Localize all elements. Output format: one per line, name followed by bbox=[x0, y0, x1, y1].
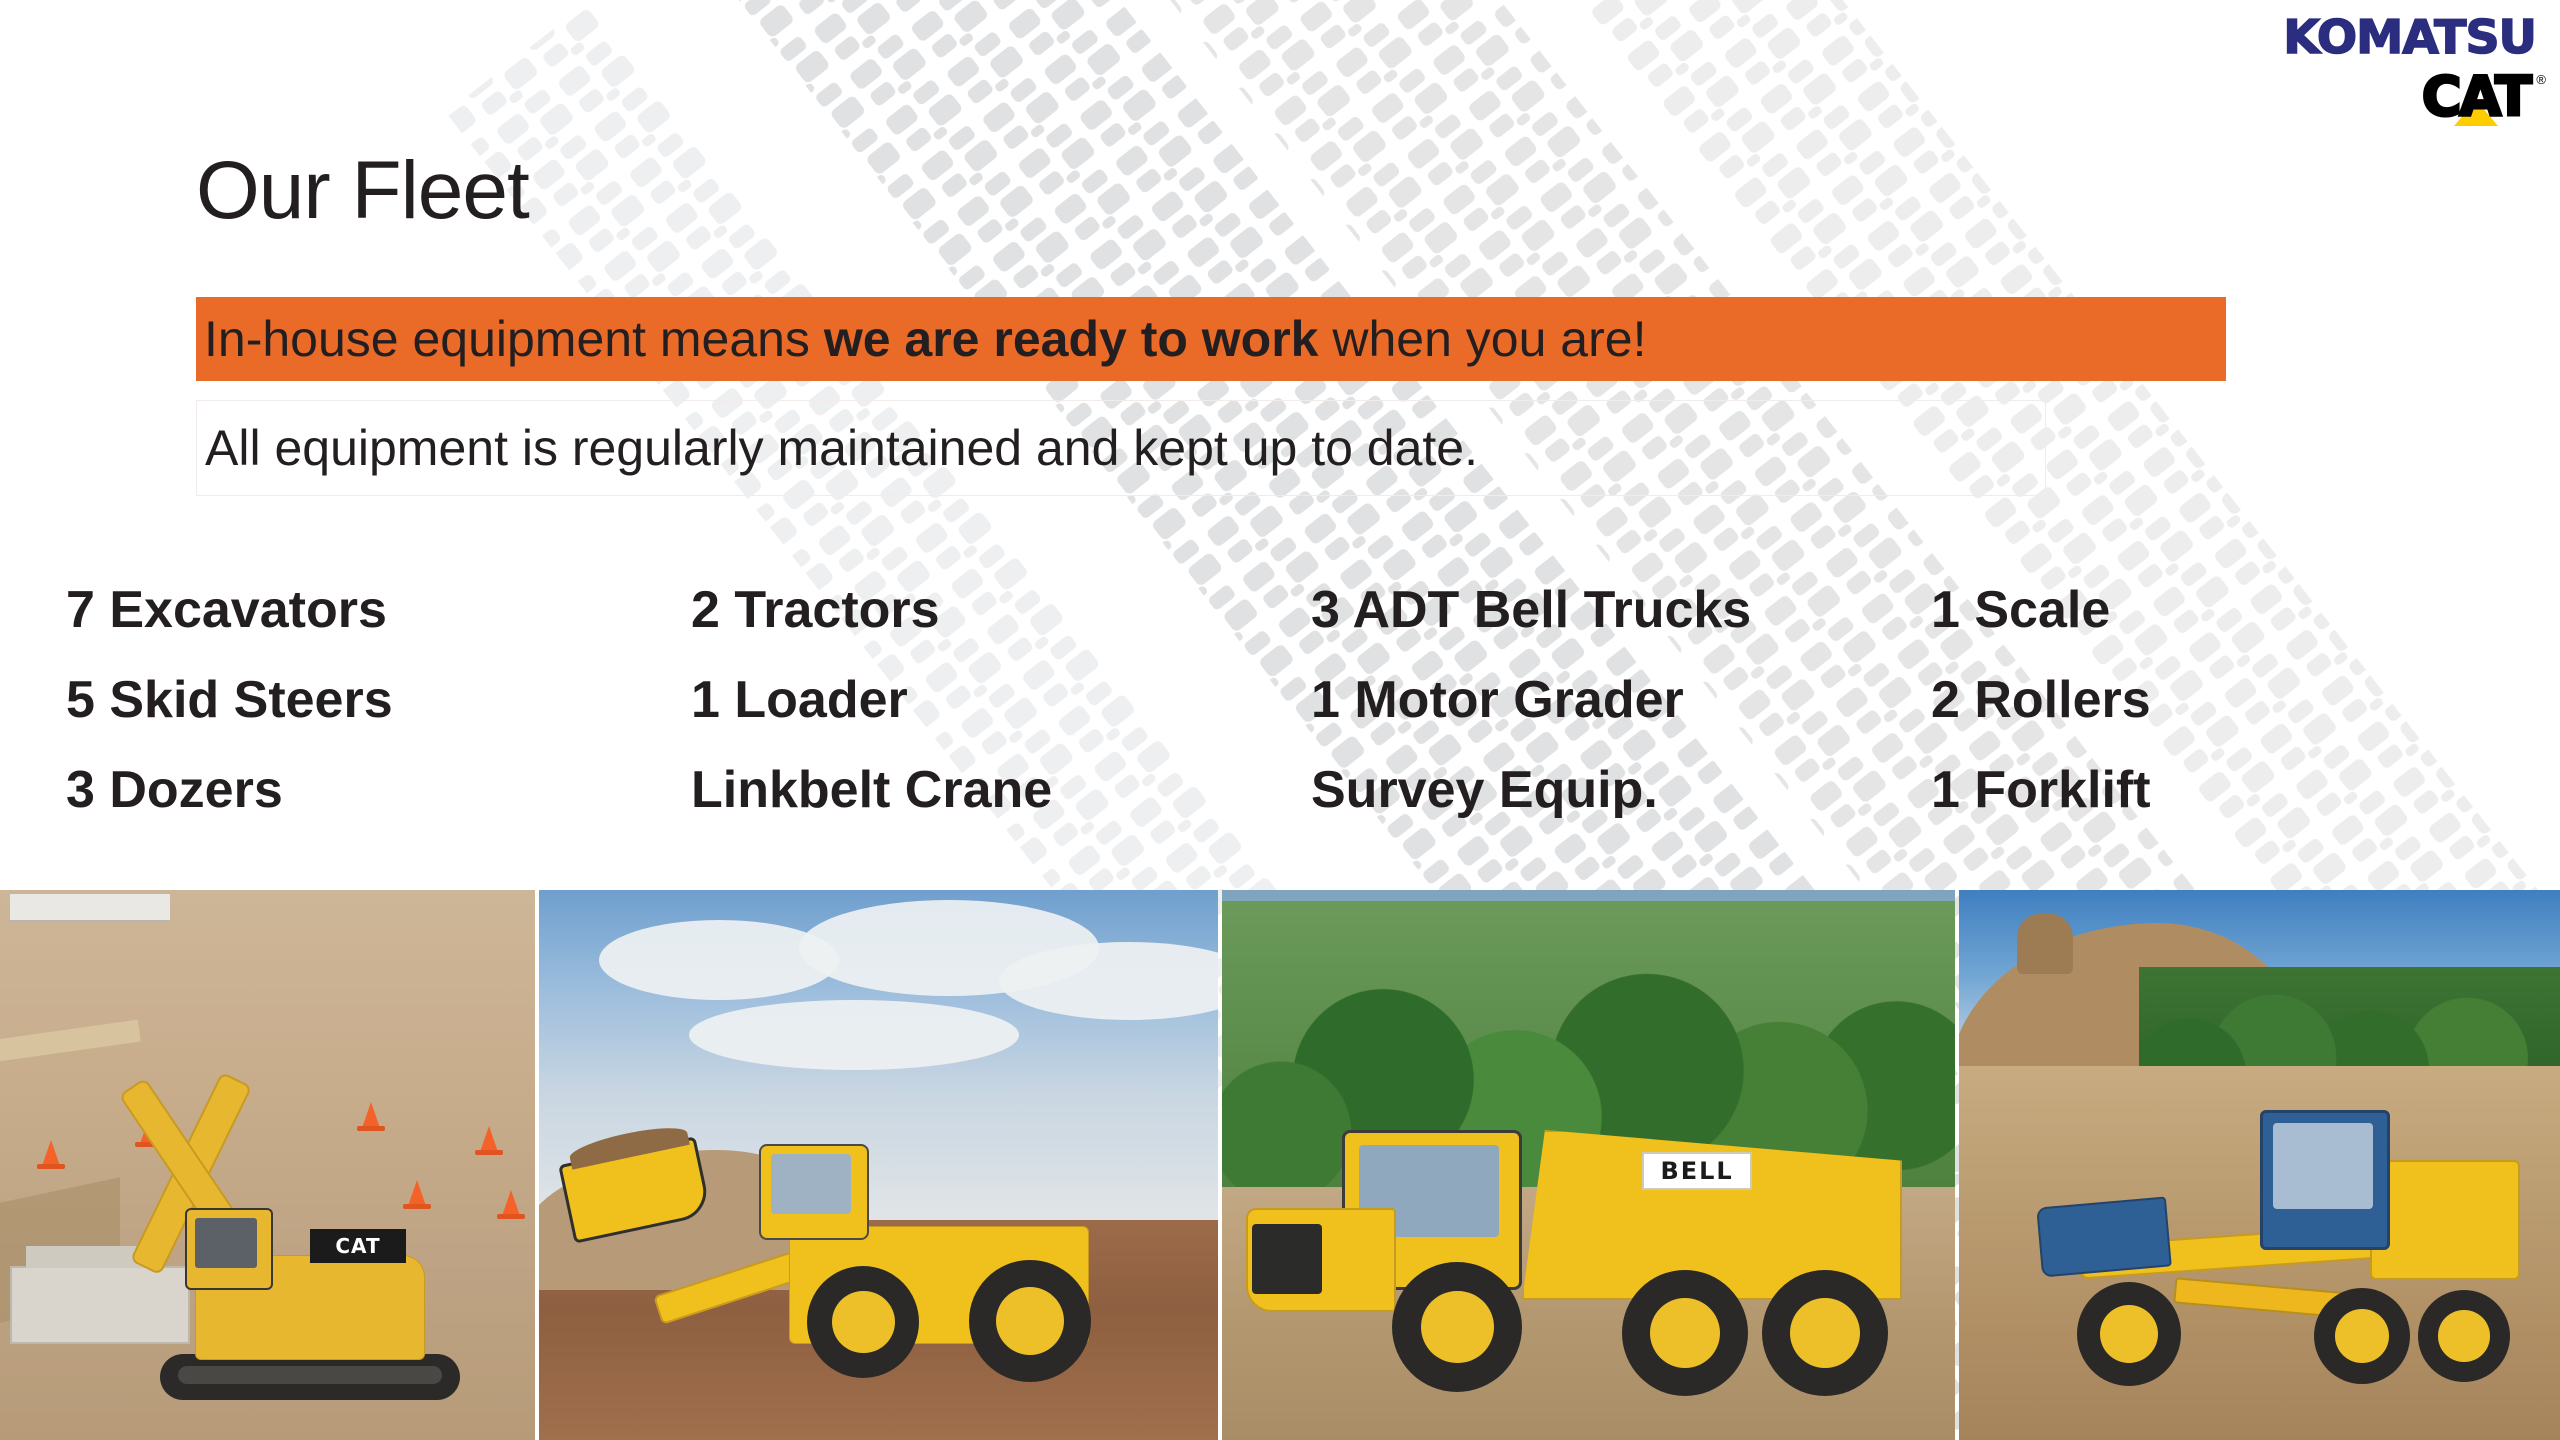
traffic-cone-icon bbox=[408, 1180, 426, 1206]
adt-front-wheel bbox=[1392, 1262, 1522, 1392]
grader-nose bbox=[2036, 1196, 2172, 1277]
fleet-item: 1 Forklift bbox=[1931, 745, 2391, 835]
banner-text: In-house equipment means we are ready to… bbox=[204, 314, 1646, 364]
komatsu-motor-grader-photo bbox=[1959, 890, 2560, 1440]
fleet-list: 7 Excavators 5 Skid Steers 3 Dozers 2 Tr… bbox=[66, 565, 2466, 835]
banner-tail-text: when you are! bbox=[1318, 311, 1646, 367]
grader-cab bbox=[2260, 1110, 2390, 1250]
excavator-cab bbox=[185, 1208, 273, 1290]
subtitle-box: All equipment is regularly maintained an… bbox=[196, 400, 2046, 496]
cat-excavator-photo: CAT bbox=[0, 890, 535, 1440]
highlight-banner: In-house equipment means we are ready to… bbox=[196, 297, 2226, 381]
concrete-block bbox=[10, 1266, 190, 1344]
traffic-cone-icon bbox=[362, 1102, 380, 1128]
fleet-item: 5 Skid Steers bbox=[66, 655, 691, 745]
subtitle-text: All equipment is regularly maintained an… bbox=[205, 423, 1478, 473]
banner-emphasis-text: we are ready to work bbox=[824, 311, 1319, 367]
komatsu-wheel-loader-photo bbox=[539, 890, 1218, 1440]
adt-rear-wheel bbox=[1762, 1270, 1888, 1396]
fleet-item: 7 Excavators bbox=[66, 565, 691, 655]
loader-cab bbox=[759, 1144, 869, 1240]
fleet-item: 2 Tractors bbox=[691, 565, 1311, 655]
registered-mark-icon: ® bbox=[2536, 72, 2546, 87]
page-title: Our Fleet bbox=[196, 150, 529, 232]
bell-adt-truck-photo: BELL bbox=[1222, 890, 1955, 1440]
fleet-item: 1 Scale bbox=[1931, 565, 2391, 655]
fleet-column-4: 1 Scale 2 Rollers 1 Forklift bbox=[1931, 565, 2391, 835]
fleet-item: Survey Equip. bbox=[1311, 745, 1931, 835]
loader-front-wheel bbox=[807, 1266, 919, 1378]
fleet-item: 1 Motor Grader bbox=[1311, 655, 1931, 745]
grader-front-wheel bbox=[2077, 1282, 2181, 1386]
cat-logo: CAT ® bbox=[2422, 70, 2530, 124]
fleet-item: 2 Rollers bbox=[1931, 655, 2391, 745]
equipment-photo-strip: CAT BELL bbox=[0, 890, 2560, 1440]
traffic-cone-icon bbox=[480, 1126, 498, 1152]
traffic-cone-icon bbox=[502, 1190, 520, 1216]
komatsu-logo: KOMATSU bbox=[2227, 14, 2536, 60]
banner-lead-text: In-house equipment means bbox=[204, 311, 824, 367]
fleet-column-3: 3 ADT Bell Trucks 1 Motor Grader Survey … bbox=[1311, 565, 1931, 835]
fleet-column-1: 7 Excavators 5 Skid Steers 3 Dozers bbox=[66, 565, 691, 835]
grader-engine-housing bbox=[2370, 1160, 2520, 1280]
fleet-item: 3 ADT Bell Trucks bbox=[1311, 565, 1931, 655]
bell-badge: BELL bbox=[1642, 1152, 1752, 1190]
background-building bbox=[10, 894, 170, 922]
grader-rear-wheel-1 bbox=[2314, 1288, 2410, 1384]
fleet-item: 3 Dozers bbox=[66, 745, 691, 835]
fleet-item: 1 Loader bbox=[691, 655, 1311, 745]
fleet-item: Linkbelt Crane bbox=[691, 745, 1311, 835]
excavator-track bbox=[160, 1354, 460, 1400]
adt-grille bbox=[1252, 1224, 1322, 1294]
cat-badge: CAT bbox=[310, 1229, 406, 1263]
cloud-shape bbox=[689, 1000, 1019, 1070]
grader-rear-wheel-2 bbox=[2418, 1290, 2510, 1382]
slide-canvas: KOMATSU CAT ® Our Fleet In-house equipme… bbox=[0, 0, 2560, 1440]
brand-logos: KOMATSU CAT ® bbox=[2236, 14, 2536, 144]
adt-mid-wheel bbox=[1622, 1270, 1748, 1396]
fleet-column-2: 2 Tractors 1 Loader Linkbelt Crane bbox=[691, 565, 1311, 835]
loader-rear-wheel bbox=[969, 1260, 1091, 1382]
traffic-cone-icon bbox=[42, 1140, 60, 1166]
rock-outcrop bbox=[2017, 914, 2073, 974]
cat-logo-text: CAT bbox=[2422, 70, 2530, 124]
